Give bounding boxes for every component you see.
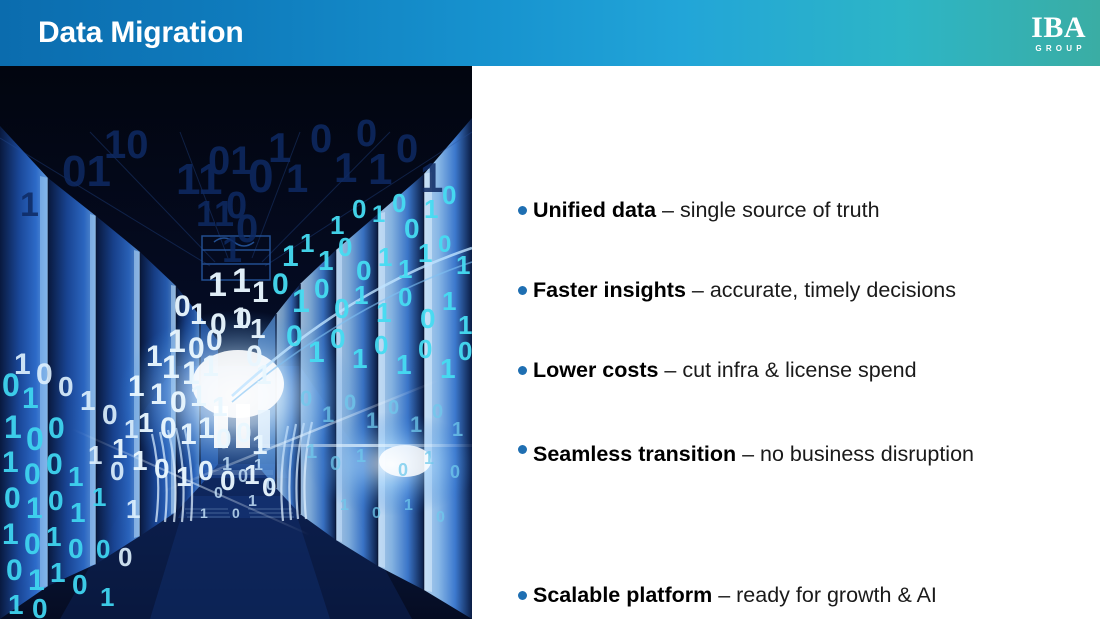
logo-subtitle: GROUP (1035, 44, 1086, 52)
svg-text:0: 0 (24, 458, 41, 491)
svg-text:1: 1 (372, 201, 385, 228)
slide-header: Data Migration IBA GROUP (0, 0, 1100, 66)
svg-text:0: 0 (388, 397, 399, 419)
svg-text:1: 1 (68, 461, 84, 492)
bullet-dot-icon (518, 286, 527, 295)
svg-text:0: 0 (374, 330, 388, 360)
svg-text:0: 0 (102, 399, 118, 430)
svg-text:0: 0 (68, 533, 84, 564)
svg-text:1: 1 (128, 370, 145, 403)
svg-text:1: 1 (456, 250, 470, 280)
svg-text:0: 0 (48, 485, 64, 516)
iba-group-logo: IBA GROUP (1031, 14, 1086, 53)
svg-text:0: 0 (436, 509, 445, 526)
bullet-lead: Faster insights (533, 278, 686, 302)
svg-text:1: 1 (26, 492, 43, 525)
bullet-lead: Unified data (533, 198, 656, 222)
svg-text:1: 1 (256, 359, 272, 390)
svg-text:0: 0 (272, 268, 289, 301)
bullet-dot-icon (518, 591, 527, 600)
bullet-text: Seamless transition – no business disrup… (533, 435, 1090, 474)
list-item: Scalable platform – ready for growth & A… (518, 581, 1090, 609)
svg-text:1: 1 (50, 557, 66, 588)
svg-text:1: 1 (88, 440, 102, 470)
svg-text:1: 1 (252, 276, 269, 309)
svg-text:0: 0 (352, 194, 366, 224)
svg-text:1: 1 (356, 446, 366, 466)
svg-text:1: 1 (100, 582, 114, 612)
svg-text:1: 1 (198, 412, 215, 445)
bullet-dot-icon (518, 366, 527, 375)
svg-text:1: 1 (248, 493, 257, 510)
svg-text:0: 0 (48, 412, 65, 445)
svg-text:1: 1 (132, 445, 148, 476)
svg-text:1: 1 (418, 238, 432, 268)
svg-text:0: 0 (286, 320, 303, 353)
svg-text:1: 1 (368, 145, 392, 194)
svg-text:1: 1 (396, 349, 412, 380)
svg-text:0: 0 (300, 386, 312, 411)
svg-text:1: 1 (306, 441, 317, 463)
svg-text:1: 1 (334, 144, 357, 191)
svg-text:0: 0 (398, 460, 408, 480)
svg-text:1: 1 (208, 266, 227, 304)
svg-text:0: 0 (154, 453, 170, 484)
svg-text:1: 1 (124, 414, 138, 444)
bullet-rest: – single source of truth (656, 198, 879, 222)
svg-text:1: 1 (308, 336, 325, 369)
bullet-rest: – no business disruption (736, 442, 974, 466)
svg-text:1: 1 (318, 245, 334, 276)
svg-text:0: 0 (458, 336, 472, 366)
svg-text:0: 0 (110, 456, 124, 486)
svg-text:0: 0 (96, 534, 110, 564)
datacenter-image: 01 10 11 11 01 0 0 0 1 1 1 0 1 0 (0, 66, 472, 619)
svg-text:0: 0 (232, 505, 240, 521)
svg-text:1: 1 (202, 350, 219, 383)
svg-text:1: 1 (352, 343, 368, 374)
slide: Data Migration IBA GROUP (0, 0, 1100, 619)
svg-text:1: 1 (376, 297, 392, 328)
svg-text:0: 0 (6, 554, 23, 587)
svg-text:1: 1 (442, 286, 456, 316)
bullet-text: Faster insights – accurate, timely decis… (533, 276, 1090, 304)
bullet-text: Scalable platform – ready for growth & A… (533, 581, 1090, 609)
svg-text:0: 0 (238, 466, 248, 486)
svg-text:1: 1 (138, 407, 154, 438)
svg-text:0: 0 (58, 371, 74, 402)
svg-text:0: 0 (310, 117, 332, 161)
bullet-rest: – ready for growth & AI (712, 583, 937, 607)
svg-text:0: 0 (32, 593, 48, 619)
svg-text:1: 1 (46, 521, 62, 552)
svg-text:0: 0 (216, 423, 232, 454)
svg-text:1: 1 (92, 482, 106, 512)
svg-text:0: 0 (330, 323, 346, 354)
list-item: Seamless transition – no business disrup… (518, 435, 1090, 474)
bullet-rest: – accurate, timely decisions (686, 278, 956, 302)
svg-text:0: 0 (418, 334, 432, 364)
svg-text:1: 1 (354, 280, 368, 310)
svg-text:1: 1 (2, 446, 19, 479)
svg-text:0: 0 (72, 569, 88, 600)
bullet-dot-icon (518, 206, 527, 215)
svg-text:0: 0 (314, 273, 330, 304)
svg-text:0: 0 (36, 358, 53, 391)
svg-text:0: 0 (46, 448, 63, 481)
svg-text:0: 0 (398, 282, 412, 312)
svg-text:0: 0 (214, 485, 223, 502)
svg-text:0: 0 (266, 477, 275, 494)
svg-text:1: 1 (340, 497, 349, 514)
svg-text:0: 0 (334, 293, 350, 324)
svg-text:0: 0 (4, 482, 21, 515)
svg-text:1: 1 (232, 262, 251, 300)
svg-text:1: 1 (176, 461, 192, 492)
bullet-text: Lower costs – cut infra & license spend (533, 356, 1090, 384)
svg-text:1: 1 (20, 186, 39, 224)
svg-text:0: 0 (338, 232, 352, 262)
svg-text:0: 0 (450, 462, 460, 482)
svg-text:1: 1 (254, 457, 263, 474)
svg-text:0: 0 (26, 421, 44, 457)
svg-text:1: 1 (190, 380, 207, 413)
list-item: Faster insights – accurate, timely decis… (518, 276, 1090, 304)
svg-text:1: 1 (286, 157, 308, 201)
svg-text:1: 1 (452, 419, 463, 441)
svg-text:1: 1 (2, 518, 19, 551)
list-item: Unified data – single source of truth (518, 196, 1090, 224)
svg-text:1: 1 (404, 497, 413, 514)
svg-text:1: 1 (292, 283, 310, 319)
svg-text:1: 1 (14, 348, 31, 381)
svg-text:0: 0 (198, 455, 214, 486)
svg-text:1: 1 (424, 448, 434, 468)
svg-text:0: 0 (372, 505, 381, 522)
svg-text:0: 0 (420, 303, 436, 334)
datacenter-illustration: 01 10 11 11 01 0 0 0 1 1 1 0 1 0 (0, 66, 472, 619)
svg-text:0: 0 (118, 542, 132, 572)
svg-text:0: 0 (174, 290, 191, 323)
bullet-text: Unified data – single source of truth (533, 196, 1090, 224)
svg-text:1: 1 (8, 589, 24, 619)
svg-text:1: 1 (200, 505, 208, 521)
svg-text:1: 1 (126, 494, 140, 524)
svg-text:1: 1 (80, 385, 96, 416)
svg-text:1: 1 (366, 408, 378, 433)
svg-text:1: 1 (398, 254, 412, 284)
svg-text:1: 1 (378, 242, 392, 272)
svg-text:0: 0 (160, 412, 177, 445)
svg-text:1: 1 (4, 409, 22, 445)
svg-text:0: 0 (24, 528, 41, 561)
bullet-lead: Scalable platform (533, 583, 712, 607)
svg-text:1: 1 (70, 497, 86, 528)
svg-text:0: 0 (344, 390, 356, 415)
svg-text:1: 1 (222, 454, 232, 474)
bullet-lead: Seamless transition (533, 442, 736, 466)
svg-text:1: 1 (440, 353, 456, 384)
svg-text:1: 1 (300, 228, 314, 258)
svg-text:1: 1 (252, 429, 268, 460)
logo-wordmark: IBA (1031, 14, 1086, 43)
svg-text:1: 1 (410, 412, 422, 437)
svg-text:1: 1 (146, 340, 163, 373)
svg-text:0: 0 (236, 303, 252, 334)
page-title: Data Migration (38, 18, 244, 48)
svg-text:01: 01 (208, 139, 253, 183)
svg-text:0: 0 (396, 127, 418, 171)
svg-text:1: 1 (424, 194, 438, 224)
svg-text:0: 0 (432, 401, 443, 423)
svg-text:1: 1 (322, 402, 334, 427)
bullet-dot-icon (518, 445, 527, 454)
svg-text:0: 0 (438, 231, 451, 258)
svg-text:0: 0 (330, 453, 341, 475)
svg-text:1: 1 (190, 298, 207, 331)
bullet-rest: – cut infra & license spend (658, 358, 916, 382)
svg-text:1: 1 (180, 418, 197, 451)
bullet-list: Unified data – single source of truth Fa… (518, 66, 1092, 619)
bullet-lead: Lower costs (533, 358, 658, 382)
svg-text:10: 10 (104, 123, 149, 167)
svg-text:0: 0 (236, 417, 252, 448)
svg-text:0: 0 (442, 180, 456, 210)
list-item: Lower costs – cut infra & license spend (518, 356, 1090, 384)
